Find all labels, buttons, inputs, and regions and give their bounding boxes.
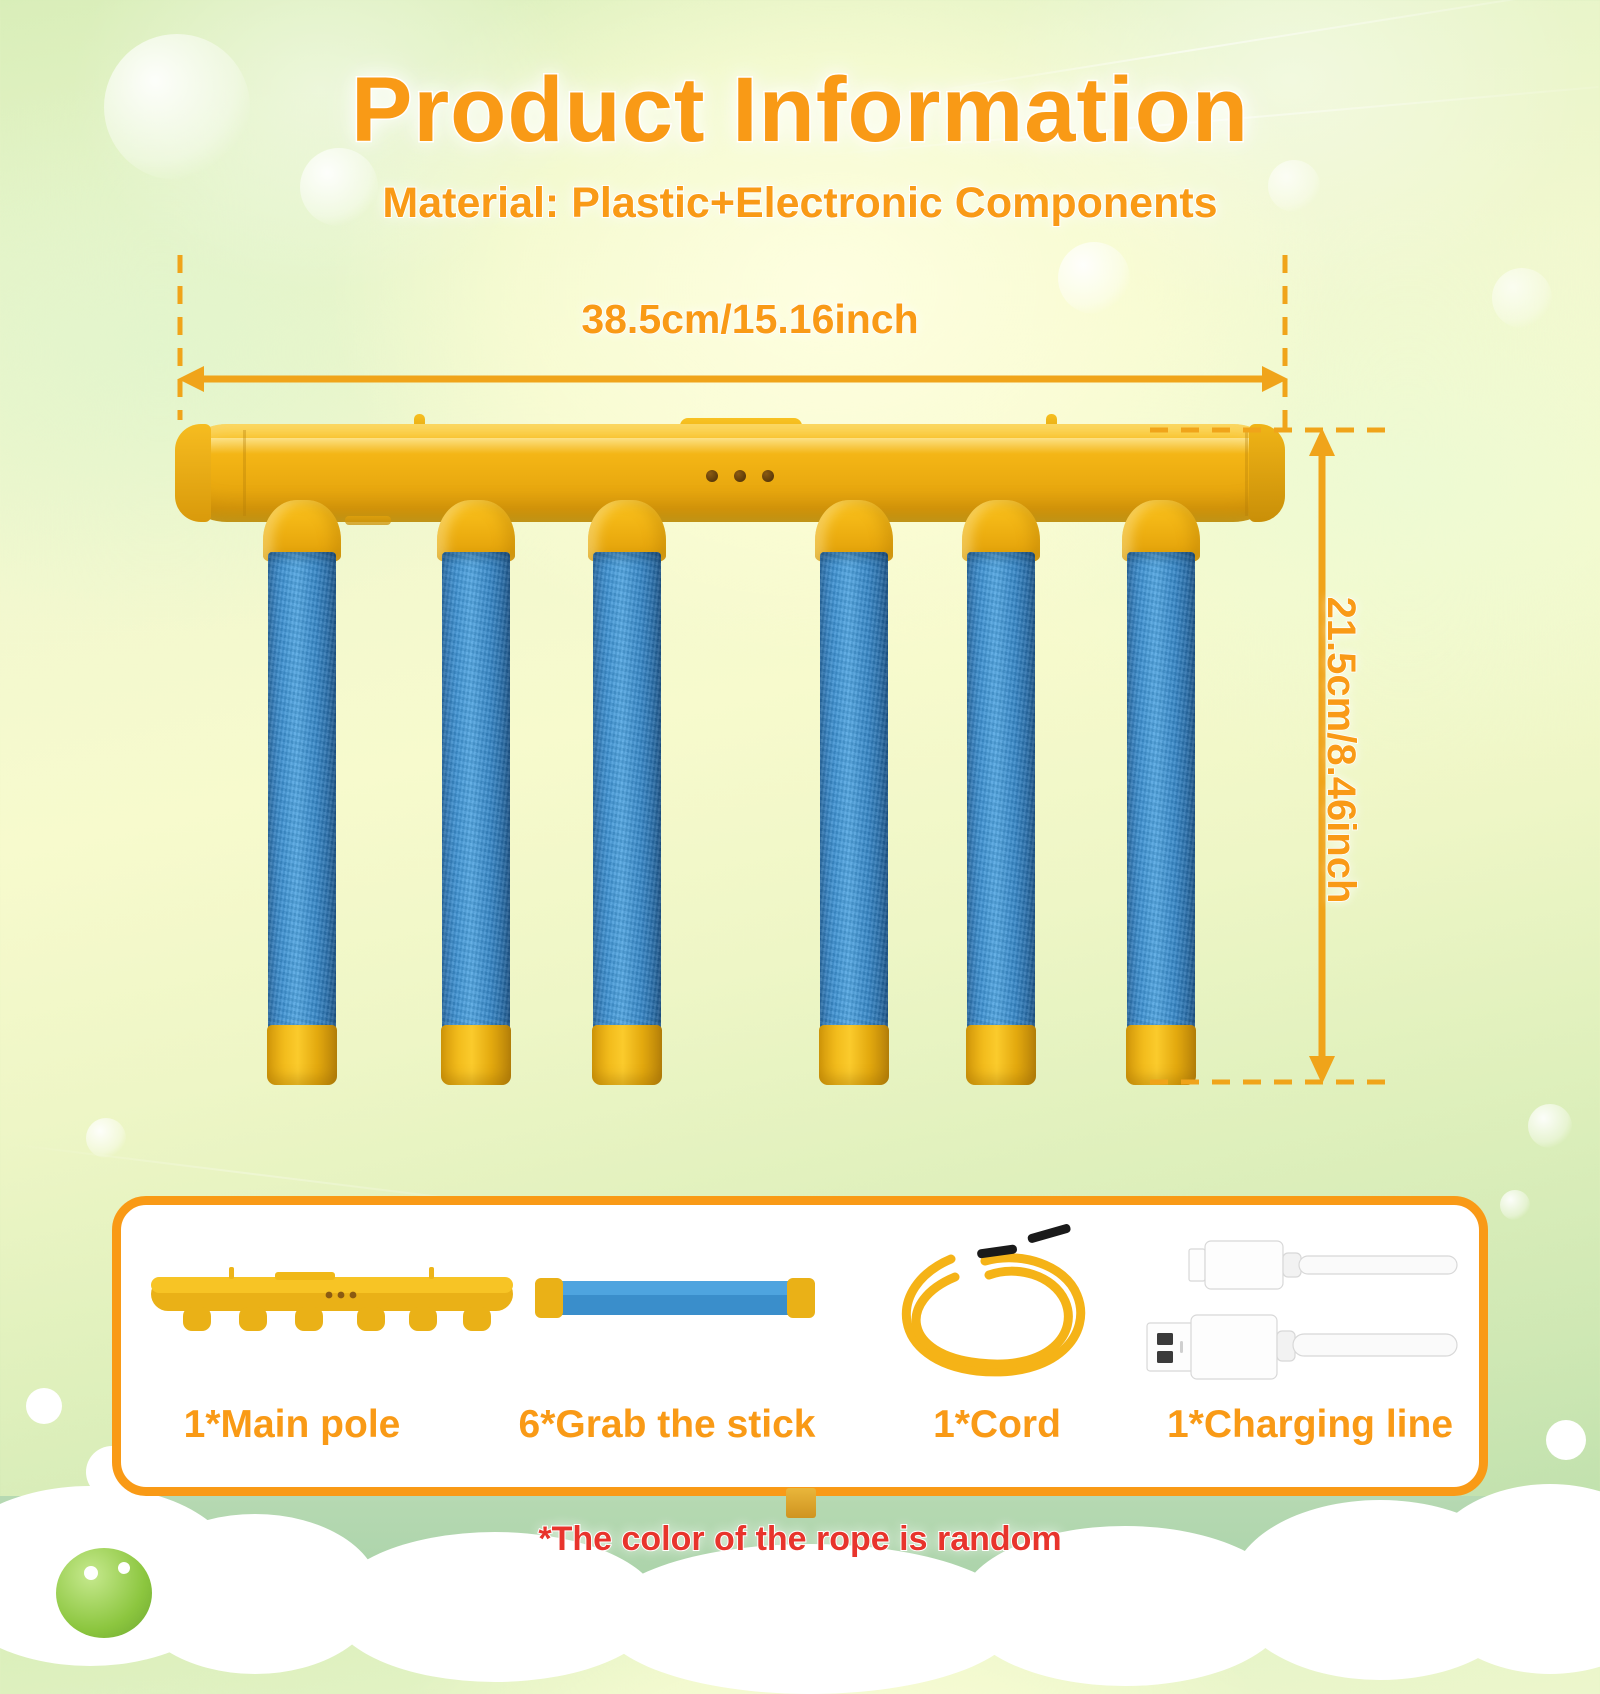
stick-end-cap xyxy=(592,1025,662,1085)
header: Product Information Material: Plastic+El… xyxy=(0,0,1600,228)
speaker-hole xyxy=(706,470,718,482)
stick-end-cap xyxy=(819,1025,889,1085)
foam-stick xyxy=(820,552,888,1030)
stick-end-cap xyxy=(441,1025,511,1085)
bar-end-cap-right xyxy=(1249,424,1285,522)
bar-seam xyxy=(243,430,246,516)
ball-highlight xyxy=(84,1566,98,1580)
bokeh-circle xyxy=(1500,1190,1530,1220)
height-dimension-label: 21.5cm/8.46inch xyxy=(1318,585,1363,915)
foam-stick xyxy=(268,552,336,1030)
charging-cable-icon xyxy=(1131,1231,1461,1391)
grab-stick-icon xyxy=(529,1267,819,1337)
speaker-hole xyxy=(762,470,774,482)
green-ball-decoration xyxy=(56,1548,152,1638)
footer-note: *The color of the rope is random xyxy=(0,1520,1600,1559)
main-pole-icon xyxy=(143,1245,523,1375)
part-label-grab-stick: 6*Grab the stick xyxy=(472,1403,862,1447)
part-label-main-pole: 1*Main pole xyxy=(112,1403,472,1447)
speaker-hole xyxy=(734,470,746,482)
ball-highlight xyxy=(118,1562,130,1574)
cord-icon xyxy=(881,1221,1111,1401)
speaker-holes xyxy=(706,470,776,482)
foam-stick xyxy=(442,552,510,1030)
bar-slot xyxy=(345,516,391,525)
material-subtitle: Material: Plastic+Electronic Components xyxy=(0,179,1600,228)
stick-end-cap xyxy=(1126,1025,1196,1085)
foam-stick xyxy=(593,552,661,1030)
bar-end-cap-left xyxy=(175,424,211,522)
stick-end-cap xyxy=(267,1025,337,1085)
bar-seam xyxy=(1245,430,1248,516)
part-label-charging-line: 1*Charging line xyxy=(1132,1403,1488,1447)
foam-stick xyxy=(967,552,1035,1030)
cloud-dot xyxy=(1546,1420,1586,1460)
part-label-cord: 1*Cord xyxy=(862,1403,1132,1447)
hanging-tab xyxy=(786,1488,816,1518)
stick-end-cap xyxy=(966,1025,1036,1085)
parts-label-row: 1*Main pole 6*Grab the stick 1*Cord 1*Ch… xyxy=(112,1390,1488,1460)
cloud-dot xyxy=(26,1388,62,1424)
page-title: Product Information xyxy=(0,58,1600,163)
foam-stick xyxy=(1127,552,1195,1030)
width-dimension-label: 38.5cm/15.16inch xyxy=(430,296,1070,343)
